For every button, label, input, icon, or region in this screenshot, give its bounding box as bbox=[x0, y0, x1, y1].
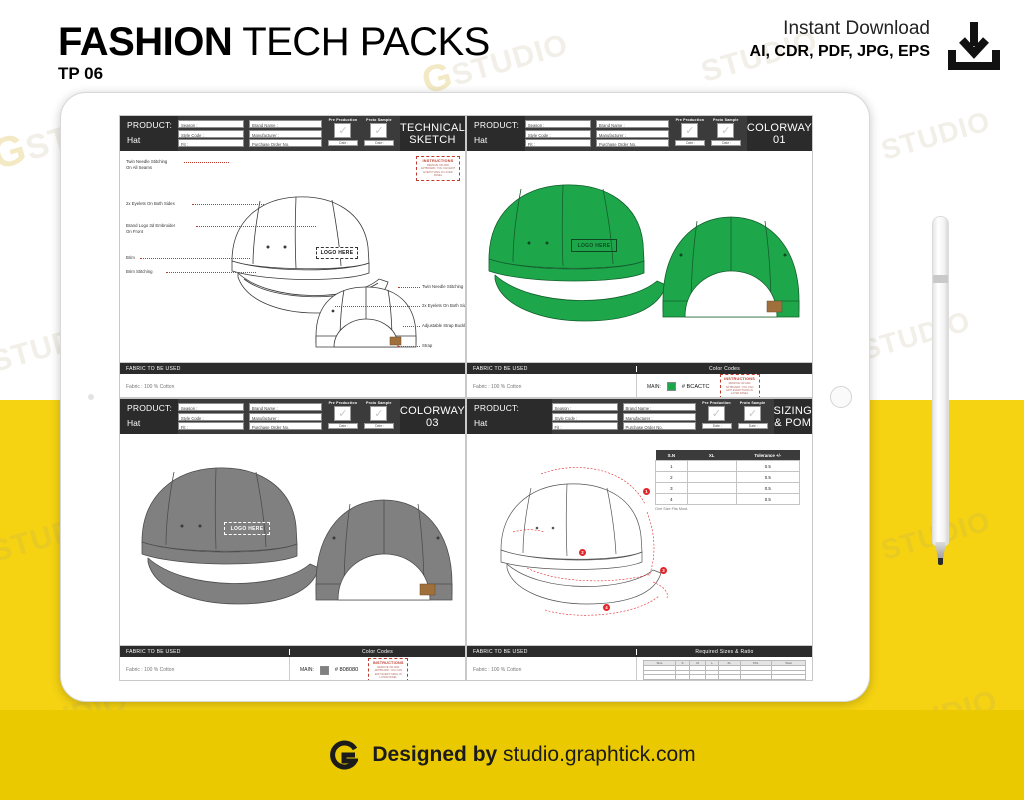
panel-header: PRODUCT: Hat Season : Style Code : Fit :… bbox=[120, 399, 465, 434]
table-row[interactable]: 3 0.5 bbox=[656, 483, 800, 494]
poster-page: GSTUDIO STUDIO GSTUDIO STUDIO STUDIO STU… bbox=[0, 0, 1024, 800]
product-value: Hat bbox=[127, 135, 178, 145]
panel-title-colorway-03: COLORWAY 03 bbox=[400, 399, 465, 434]
pre-production-checkbox[interactable]: ✓ bbox=[681, 123, 698, 138]
panel-sizing-pom: PRODUCT: Hat Season : Style Code : Fit :… bbox=[466, 398, 813, 681]
annotation-strap-buckle: Adjustable Strap Buckle bbox=[422, 323, 466, 329]
cell-xl[interactable] bbox=[687, 472, 736, 483]
purchase-order-field[interactable]: Purchase Order No. bbox=[596, 139, 669, 147]
header-checkboxes: Pre Production ✓ Date : Proto Sample ✓ D… bbox=[322, 116, 400, 151]
purchase-order-field[interactable]: Purchase Order No. bbox=[249, 139, 322, 147]
style-code-field[interactable]: Style Code : bbox=[525, 130, 591, 138]
hat-back-view-grey bbox=[120, 434, 466, 645]
panel-title-sizing-pom: SIZING & POM bbox=[774, 399, 812, 434]
fabric-value: Fabric : 100 % Cotton bbox=[467, 384, 636, 390]
product-label: PRODUCT: bbox=[127, 403, 178, 413]
pencil-band bbox=[933, 275, 948, 283]
cell-xl[interactable] bbox=[687, 483, 736, 494]
proto-sample-check-group: Proto Sample ✓ Date : bbox=[711, 118, 741, 151]
proto-sample-check-group: Proto Sample ✓ Date : bbox=[738, 401, 768, 434]
pom-marker-3: 3 bbox=[660, 567, 667, 574]
panel-title-line1: SIZING & POM bbox=[774, 405, 812, 429]
instructions-body: REMOVE OR ADD ARTBOARD. YOU CAN EDIT EVE… bbox=[724, 382, 756, 396]
panel-footer: FABRIC TO BE USED Color Codes Fabric : 1… bbox=[120, 645, 465, 681]
pom-marker-4: 4 bbox=[603, 604, 610, 611]
color-swatch bbox=[667, 382, 676, 391]
season-field[interactable]: Season : bbox=[178, 403, 244, 411]
th-sn: S.N bbox=[656, 450, 688, 461]
annotation-twin-needle: Twin Needle StitchingOn All Seams bbox=[126, 159, 167, 171]
instructions-note: INSTRUCTIONS REMOVE OR ADD ARTBOARD. YOU… bbox=[416, 156, 460, 181]
manufacturer-field[interactable]: Manufacturer : bbox=[623, 413, 696, 421]
pre-production-date[interactable]: Date : bbox=[675, 140, 705, 146]
leader-line bbox=[403, 326, 420, 327]
ratio-table[interactable]: Size S M L XL XXL Total bbox=[643, 660, 806, 680]
panel-body: LOGO HERE bbox=[120, 434, 465, 645]
page-title-bold: FASHION bbox=[58, 20, 232, 64]
header-fields: Season : Style Code : Fit : Brand Name :… bbox=[525, 116, 669, 151]
fabric-bar: FABRIC TO BE USED Color Codes bbox=[467, 363, 812, 374]
site-url: studio.graphtick.com bbox=[503, 743, 696, 766]
fabric-body: Fabric : 100 % Cotton MAIN: # 808080 INS… bbox=[120, 657, 465, 681]
poster-header: FASHION TECH PACKS TP 06 Instant Downloa… bbox=[0, 0, 1024, 100]
fabric-bar-label: FABRIC TO BE USED bbox=[467, 366, 636, 372]
tablet-home-button[interactable] bbox=[830, 386, 852, 408]
instructions-title: INSTRUCTIONS bbox=[724, 377, 756, 381]
manufacturer-field[interactable]: Manufacturer : bbox=[596, 130, 669, 138]
pre-production-check-group: Pre Production ✓ Date : bbox=[702, 401, 732, 434]
panel-body: LOGO HERE bbox=[467, 151, 812, 362]
cell-tolerance: 0.5 bbox=[736, 483, 799, 494]
brand-name-field[interactable]: Brand Name : bbox=[623, 403, 696, 411]
proto-sample-checkbox[interactable]: ✓ bbox=[717, 123, 734, 138]
product-block: PRODUCT: Hat bbox=[120, 399, 178, 434]
panel-body: 1 2 3 4 S.N XL Tolerance +/- bbox=[467, 434, 812, 645]
header-fields: Season : Style Code : Fit : Brand Name :… bbox=[552, 399, 696, 434]
tablet-screen: PRODUCT: Hat Season : Style Code : Fit :… bbox=[119, 115, 813, 681]
proto-sample-checkbox[interactable]: ✓ bbox=[370, 406, 387, 421]
pre-production-label: Pre Production bbox=[702, 401, 732, 405]
annotation-brim: Brim bbox=[126, 255, 135, 261]
leader-line bbox=[335, 306, 420, 307]
th-xl: XL bbox=[687, 450, 736, 461]
panel-title-line1: COLORWAY bbox=[747, 122, 812, 134]
pre-production-checkbox[interactable]: ✓ bbox=[334, 406, 351, 421]
product-label: PRODUCT: bbox=[474, 403, 552, 413]
pre-production-label: Pre Production bbox=[675, 118, 705, 122]
color-code-block: MAIN: # BCACTC INSTRUCTIONS REMOVE OR AD… bbox=[636, 374, 812, 398]
leader-line bbox=[398, 346, 420, 347]
product-block: PRODUCT: Hat bbox=[120, 116, 178, 151]
header-fields: Season : Style Code : Fit : Brand Name :… bbox=[178, 116, 322, 151]
proto-sample-date[interactable]: Date : bbox=[711, 140, 741, 146]
size-table-note: One Size Fits Most. bbox=[655, 507, 800, 511]
file-formats-label: AI, CDR, PDF, JPG, EPS bbox=[750, 43, 930, 61]
leader-line bbox=[166, 272, 256, 273]
leader-line bbox=[140, 258, 250, 259]
proto-sample-label: Proto Sample bbox=[738, 401, 768, 405]
cell-sn: 3 bbox=[656, 483, 688, 494]
table-row[interactable]: 4 0.5 bbox=[656, 494, 800, 505]
header-fields: Season : Style Code : Fit : Brand Name :… bbox=[178, 399, 322, 434]
proto-sample-date[interactable]: Date : bbox=[364, 140, 394, 146]
annotation-strap: Strap bbox=[422, 343, 432, 349]
instructions-title: INSTRUCTIONS bbox=[420, 159, 456, 163]
cell-sn: 4 bbox=[656, 494, 688, 505]
cell-tolerance: 0.5 bbox=[736, 494, 799, 505]
product-value: Hat bbox=[474, 418, 552, 428]
designed-by-text: Designed by studio.graphtick.com bbox=[372, 743, 695, 767]
panel-title-line2: 01 bbox=[747, 134, 812, 146]
cell-sn: 1 bbox=[656, 461, 688, 472]
pom-marker-2: 2 bbox=[579, 549, 586, 556]
table-row[interactable]: 1 0.5 bbox=[656, 461, 800, 472]
tablet-mockup: PRODUCT: Hat Season : Style Code : Fit :… bbox=[60, 92, 870, 702]
fit-field[interactable]: Fit : bbox=[552, 422, 618, 430]
required-sizes-ratio-label: Required Sizes & Ratio bbox=[636, 649, 812, 655]
designed-by-label: Designed by bbox=[372, 743, 503, 766]
pre-production-checkbox[interactable]: ✓ bbox=[334, 123, 351, 138]
leader-line bbox=[196, 226, 316, 227]
leader-line bbox=[192, 204, 264, 205]
panel-title-colorway-01: COLORWAY 01 bbox=[747, 116, 812, 151]
download-info: Instant Download AI, CDR, PDF, JPG, EPS bbox=[750, 18, 1002, 61]
download-icon[interactable] bbox=[946, 20, 1002, 72]
color-swatch bbox=[320, 666, 329, 675]
season-field[interactable]: Season : bbox=[525, 120, 591, 128]
fabric-body: Fabric : 100 % Cotton Size S M L XL bbox=[467, 657, 812, 681]
fabric-value: Fabric : 100 % Cotton bbox=[120, 667, 289, 673]
pre-production-date[interactable]: Date : bbox=[702, 423, 732, 429]
instructions-title: INSTRUCTIONS bbox=[372, 661, 404, 665]
panel-footer: FABRIC TO BE USED Required Sizes & Ratio… bbox=[467, 645, 812, 681]
leader-line bbox=[398, 287, 420, 288]
page-title-rest: TECH PACKS bbox=[232, 20, 490, 64]
panel-title-line1: TECHNICAL bbox=[400, 122, 465, 134]
fabric-bar-label: FABRIC TO BE USED bbox=[120, 366, 465, 372]
table-header-row: S.N XL Tolerance +/- bbox=[656, 450, 800, 461]
panel-footer: FABRIC TO BE USED Color Codes Fabric : 1… bbox=[467, 362, 812, 398]
page-title: FASHION TECH PACKS bbox=[58, 20, 490, 65]
product-label: PRODUCT: bbox=[474, 120, 525, 130]
panel-title-technical-sketch: TECHNICAL SKETCH bbox=[400, 116, 465, 151]
style-code-field[interactable]: Style Code : bbox=[178, 413, 244, 421]
fabric-body: Fabric : 100 % Cotton bbox=[120, 374, 465, 398]
instructions-note: INSTRUCTIONS REMOVE OR ADD ARTBOARD. YOU… bbox=[720, 374, 760, 398]
panel-title-line2: SKETCH bbox=[400, 134, 465, 146]
pre-production-label: Pre Production bbox=[328, 118, 358, 122]
pencil-nib bbox=[938, 558, 943, 565]
brand-name-field[interactable]: Brand Name : bbox=[249, 120, 322, 128]
apple-pencil-illustration bbox=[932, 216, 949, 546]
ratio-row[interactable] bbox=[644, 675, 806, 680]
purchase-order-field[interactable]: Purchase Order No. bbox=[623, 422, 696, 430]
panel-colorway-01: PRODUCT: Hat Season : Style Code : Fit :… bbox=[466, 115, 813, 398]
product-block: PRODUCT: Hat bbox=[467, 399, 552, 434]
season-field[interactable]: Season : bbox=[552, 403, 618, 411]
manufacturer-field[interactable]: Manufacturer : bbox=[249, 413, 322, 421]
brand-name-field[interactable]: Brand Name : bbox=[249, 403, 322, 411]
instructions-body: REMOVE OR ADD ARTBOARD. YOU CAN EDIT EVE… bbox=[420, 164, 456, 178]
proto-sample-label: Proto Sample bbox=[711, 118, 741, 122]
panel-title-line1: COLORWAY bbox=[400, 405, 465, 417]
manufacturer-field[interactable]: Manufacturer : bbox=[249, 130, 322, 138]
pre-production-check-group: Pre Production ✓ Date : bbox=[328, 401, 358, 434]
proto-sample-label: Proto Sample bbox=[364, 401, 394, 405]
color-codes-label: Color Codes bbox=[636, 366, 812, 372]
fit-field[interactable]: Fit : bbox=[178, 422, 244, 430]
ratio-table-block: Size S M L XL XXL Total bbox=[636, 657, 812, 681]
panel-body: LOGO HERE bbox=[120, 151, 465, 362]
pre-production-check-group: Pre Production ✓ Date : bbox=[328, 118, 358, 151]
proto-sample-checkbox[interactable]: ✓ bbox=[744, 406, 761, 421]
panel-header: PRODUCT: Hat Season : Style Code : Fit :… bbox=[467, 116, 812, 151]
fabric-value: Fabric : 100 % Cotton bbox=[467, 667, 636, 673]
purchase-order-field[interactable]: Purchase Order No. bbox=[249, 422, 322, 430]
fabric-value: Fabric : 100 % Cotton bbox=[120, 384, 465, 390]
fabric-bar-label: FABRIC TO BE USED bbox=[120, 649, 289, 655]
cell-xl[interactable] bbox=[687, 494, 736, 505]
panel-header: PRODUCT: Hat Season : Style Code : Fit :… bbox=[120, 116, 465, 151]
product-value: Hat bbox=[127, 418, 178, 428]
size-table: S.N XL Tolerance +/- 1 0.5 bbox=[655, 450, 800, 505]
pre-production-date[interactable]: Date : bbox=[328, 140, 358, 146]
instructions-body: REMOVE OR ADD ARTBOARD. YOU CAN EDIT EVE… bbox=[372, 666, 404, 680]
panel-footer: FABRIC TO BE USED Fabric : 100 % Cotton bbox=[120, 362, 465, 398]
product-label: PRODUCT: bbox=[127, 120, 178, 130]
color-code-block: MAIN: # 808080 INSTRUCTIONS REMOVE OR AD… bbox=[289, 657, 465, 681]
header-checkboxes: Pre Production ✓ Date : Proto Sample ✓ D… bbox=[696, 399, 774, 434]
fit-field[interactable]: Fit : bbox=[525, 139, 591, 147]
brand-name-field[interactable]: Brand Name : bbox=[596, 120, 669, 128]
cell-sn: 2 bbox=[656, 472, 688, 483]
proto-sample-check-group: Proto Sample ✓ Date : bbox=[364, 401, 394, 434]
pre-production-check-group: Pre Production ✓ Date : bbox=[675, 118, 705, 151]
hat-back-view-green bbox=[467, 151, 813, 362]
fit-field[interactable]: Fit : bbox=[178, 139, 244, 147]
season-field[interactable]: Season : bbox=[178, 120, 244, 128]
tablet-camera bbox=[88, 394, 94, 400]
table-row[interactable]: 2 0.5 bbox=[656, 472, 800, 483]
pom-marker-1: 1 bbox=[643, 488, 650, 495]
panel-header: PRODUCT: Hat Season : Style Code : Fit :… bbox=[467, 399, 812, 434]
product-value: Hat bbox=[474, 135, 525, 145]
panel-title-line2: 03 bbox=[400, 417, 465, 429]
size-table-block: S.N XL Tolerance +/- 1 0.5 bbox=[655, 450, 800, 511]
color-hex-value: # BCACTC bbox=[682, 384, 710, 390]
annotation-brand-logo: Brand Logo 3d EmbroiderOn Front bbox=[126, 223, 175, 235]
pre-production-label: Pre Production bbox=[328, 401, 358, 405]
annotation-twin-needle-right: Twin Needle Stitching bbox=[422, 284, 463, 290]
pre-production-checkbox[interactable]: ✓ bbox=[708, 406, 725, 421]
cell-xl[interactable] bbox=[687, 461, 736, 472]
hat-back-view-sketch bbox=[120, 151, 466, 362]
fabric-bar: FABRIC TO BE USED bbox=[120, 363, 465, 374]
proto-sample-date[interactable]: Date : bbox=[364, 423, 394, 429]
style-code-field[interactable]: Style Code : bbox=[552, 413, 618, 421]
pre-production-date[interactable]: Date : bbox=[328, 423, 358, 429]
fabric-bar-label: FABRIC TO BE USED bbox=[467, 649, 636, 655]
header-checkboxes: Pre Production ✓ Date : Proto Sample ✓ D… bbox=[669, 116, 747, 151]
style-code-field[interactable]: Style Code : bbox=[178, 130, 244, 138]
page-subtitle: TP 06 bbox=[58, 64, 103, 84]
fabric-body: Fabric : 100 % Cotton MAIN: # BCACTC INS… bbox=[467, 374, 812, 398]
instant-download-label: Instant Download bbox=[750, 18, 930, 40]
annotation-eyelets-right: 2x Eyelets On Both Sides bbox=[422, 303, 466, 309]
color-main-label: MAIN: bbox=[300, 667, 314, 673]
color-main-label: MAIN: bbox=[647, 384, 661, 390]
fabric-bar: FABRIC TO BE USED Required Sizes & Ratio bbox=[467, 646, 812, 657]
panel-colorway-03: PRODUCT: Hat Season : Style Code : Fit :… bbox=[119, 398, 466, 681]
fabric-bar: FABRIC TO BE USED Color Codes bbox=[120, 646, 465, 657]
color-hex-value: # 808080 bbox=[335, 667, 358, 673]
instructions-note: INSTRUCTIONS REMOVE OR ADD ARTBOARD. YOU… bbox=[368, 658, 408, 681]
product-block: PRODUCT: Hat bbox=[467, 116, 525, 151]
th-tolerance: Tolerance +/- bbox=[736, 450, 799, 461]
poster-footer: Designed by studio.graphtick.com bbox=[0, 710, 1024, 800]
proto-sample-checkbox[interactable]: ✓ bbox=[370, 123, 387, 138]
proto-sample-label: Proto Sample bbox=[364, 118, 394, 122]
proto-sample-check-group: Proto Sample ✓ Date : bbox=[364, 118, 394, 151]
annotation-brim-stitching: Brim Stitching bbox=[126, 269, 153, 275]
cell-tolerance: 0.5 bbox=[736, 461, 799, 472]
header-checkboxes: Pre Production ✓ Date : Proto Sample ✓ D… bbox=[322, 399, 400, 434]
color-codes-label: Color Codes bbox=[289, 649, 465, 655]
proto-sample-date[interactable]: Date : bbox=[738, 423, 768, 429]
panel-technical-sketch: PRODUCT: Hat Season : Style Code : Fit :… bbox=[119, 115, 466, 398]
cell-tolerance: 0.5 bbox=[736, 472, 799, 483]
graphtick-logo-icon bbox=[328, 740, 358, 770]
leader-line bbox=[184, 162, 229, 163]
annotation-eyelets: 2x Eyelets On Both Sides bbox=[126, 201, 175, 207]
